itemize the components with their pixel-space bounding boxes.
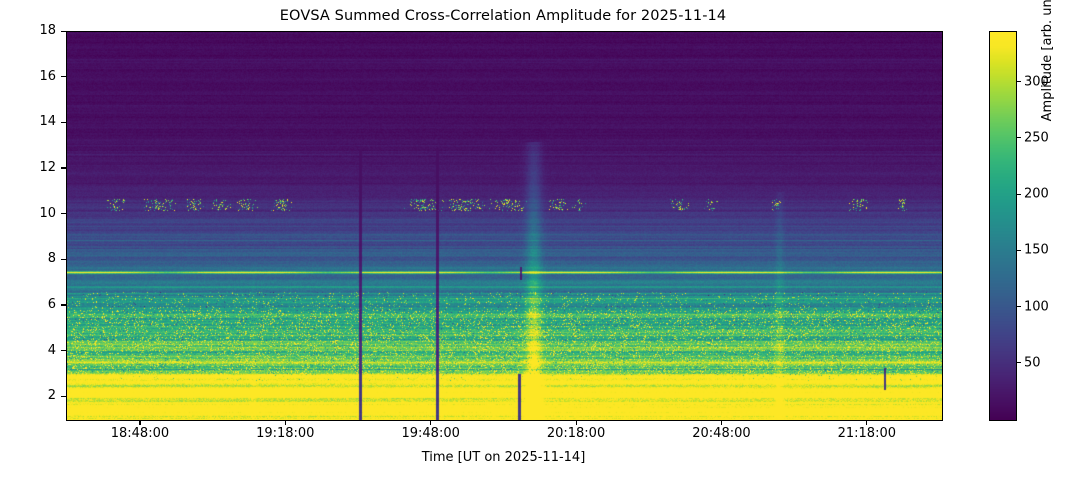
colorbar[interactable] bbox=[989, 31, 1017, 421]
y-tick-label: 6 bbox=[0, 297, 56, 312]
colorbar-tick-mark bbox=[1017, 194, 1022, 195]
colorbar-tick-mark bbox=[1017, 250, 1022, 251]
x-axis-label: Time [UT on 2025-11-14] bbox=[66, 450, 941, 465]
y-tick-label: 16 bbox=[0, 69, 56, 84]
y-tick-label: 14 bbox=[0, 114, 56, 129]
y-tick-mark bbox=[61, 122, 66, 123]
y-tick-label: 8 bbox=[0, 251, 56, 266]
x-tick-label: 20:48:00 bbox=[692, 426, 750, 441]
y-tick-mark bbox=[61, 350, 66, 351]
spectrogram-image bbox=[67, 32, 942, 420]
colorbar-tick-label: 100 bbox=[1024, 299, 1049, 314]
figure-canvas: EOVSA Summed Cross-Correlation Amplitude… bbox=[0, 0, 1073, 479]
colorbar-tick-label: 50 bbox=[1024, 355, 1041, 370]
colorbar-tick-mark bbox=[1017, 81, 1022, 82]
x-tick-mark bbox=[866, 420, 867, 425]
colorbar-tick-label: 200 bbox=[1024, 187, 1049, 202]
colorbar-gradient bbox=[990, 32, 1016, 420]
spectrogram-axes[interactable] bbox=[66, 31, 943, 421]
y-tick-label: 12 bbox=[0, 160, 56, 175]
colorbar-tick-label: 150 bbox=[1024, 243, 1049, 258]
x-tick-label: 18:48:00 bbox=[111, 426, 169, 441]
x-tick-mark bbox=[576, 420, 577, 425]
colorbar-tick-mark bbox=[1017, 137, 1022, 138]
y-tick-mark bbox=[61, 396, 66, 397]
y-tick-mark bbox=[61, 304, 66, 305]
y-tick-label: 4 bbox=[0, 343, 56, 358]
x-tick-mark bbox=[139, 420, 140, 425]
y-tick-label: 2 bbox=[0, 388, 56, 403]
x-tick-label: 19:18:00 bbox=[256, 426, 314, 441]
y-tick-mark bbox=[61, 259, 66, 260]
colorbar-tick-mark bbox=[1017, 362, 1022, 363]
y-tick-mark bbox=[61, 167, 66, 168]
y-tick-label: 10 bbox=[0, 206, 56, 221]
y-tick-label: 18 bbox=[0, 23, 56, 38]
page-title: EOVSA Summed Cross-Correlation Amplitude… bbox=[0, 8, 1006, 24]
colorbar-tick-label: 300 bbox=[1024, 74, 1049, 89]
colorbar-tick-label: 250 bbox=[1024, 130, 1049, 145]
y-tick-mark bbox=[61, 76, 66, 77]
x-tick-label: 20:18:00 bbox=[547, 426, 605, 441]
x-tick-mark bbox=[721, 420, 722, 425]
y-tick-mark bbox=[61, 213, 66, 214]
x-tick-mark bbox=[430, 420, 431, 425]
y-tick-mark bbox=[61, 31, 66, 32]
x-tick-label: 21:18:00 bbox=[838, 426, 896, 441]
colorbar-label: Amplitude [arb. units] bbox=[1040, 0, 1055, 140]
x-tick-mark bbox=[285, 420, 286, 425]
x-tick-label: 19:48:00 bbox=[401, 426, 459, 441]
colorbar-tick-mark bbox=[1017, 306, 1022, 307]
